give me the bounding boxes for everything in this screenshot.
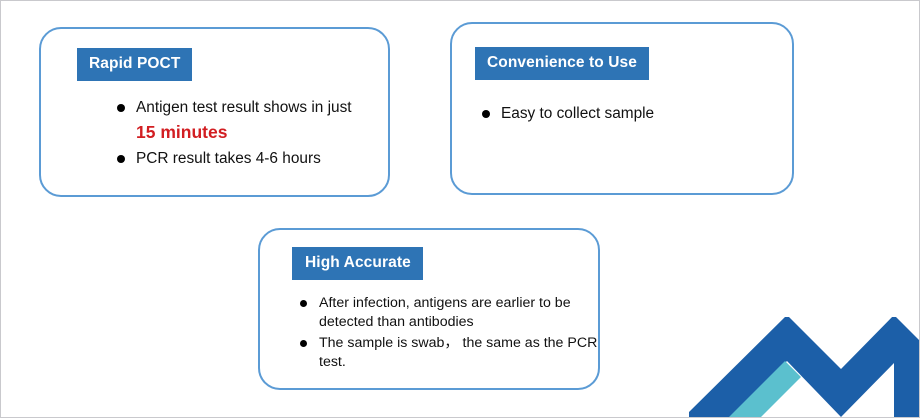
bullet-list-rapid-poct: Antigen test result shows in just 15 min… bbox=[115, 96, 388, 171]
list-item: PCR result takes 4-6 hours bbox=[115, 147, 388, 171]
card-convenience-to-use: Convenience to Use Easy to collect sampl… bbox=[450, 22, 794, 195]
card-badge-convenience-to-use: Convenience to Use bbox=[475, 47, 649, 80]
list-item: After infection, antigens are earlier to… bbox=[298, 294, 598, 333]
bullet-dot-icon bbox=[482, 110, 490, 118]
list-item-text: Easy to collect sample bbox=[501, 105, 654, 122]
bullet-dot-icon bbox=[300, 300, 307, 307]
list-item: The sample is swab， the same as the PCR … bbox=[298, 334, 598, 373]
list-item-text: Antigen test result shows in just bbox=[136, 99, 352, 116]
bullet-list-high-accurate: After infection, antigens are earlier to… bbox=[298, 294, 598, 373]
slide-canvas: Rapid POCT Antigen test result shows in … bbox=[0, 0, 920, 418]
card-rapid-poct: Rapid POCT Antigen test result shows in … bbox=[39, 27, 390, 197]
bullet-dot-icon bbox=[117, 155, 125, 163]
bullet-list-convenience-to-use: Easy to collect sample bbox=[480, 102, 792, 126]
card-high-accurate: High Accurate After infection, antigens … bbox=[258, 228, 600, 390]
card-badge-rapid-poct: Rapid POCT bbox=[77, 48, 192, 81]
list-item-text: After infection, antigens are earlier to… bbox=[319, 295, 571, 331]
highlight-text: 15 minutes bbox=[136, 120, 388, 145]
card-badge-high-accurate: High Accurate bbox=[292, 247, 423, 280]
chevron-mountain-logo-icon bbox=[689, 317, 919, 417]
list-item-text: PCR result takes 4-6 hours bbox=[136, 150, 321, 167]
list-item-text: The sample is swab， the same as the PCR … bbox=[319, 335, 597, 371]
bullet-dot-icon bbox=[300, 340, 307, 347]
bullet-dot-icon bbox=[117, 104, 125, 112]
list-item: Antigen test result shows in just 15 min… bbox=[115, 96, 388, 145]
list-item: Easy to collect sample bbox=[480, 102, 792, 126]
